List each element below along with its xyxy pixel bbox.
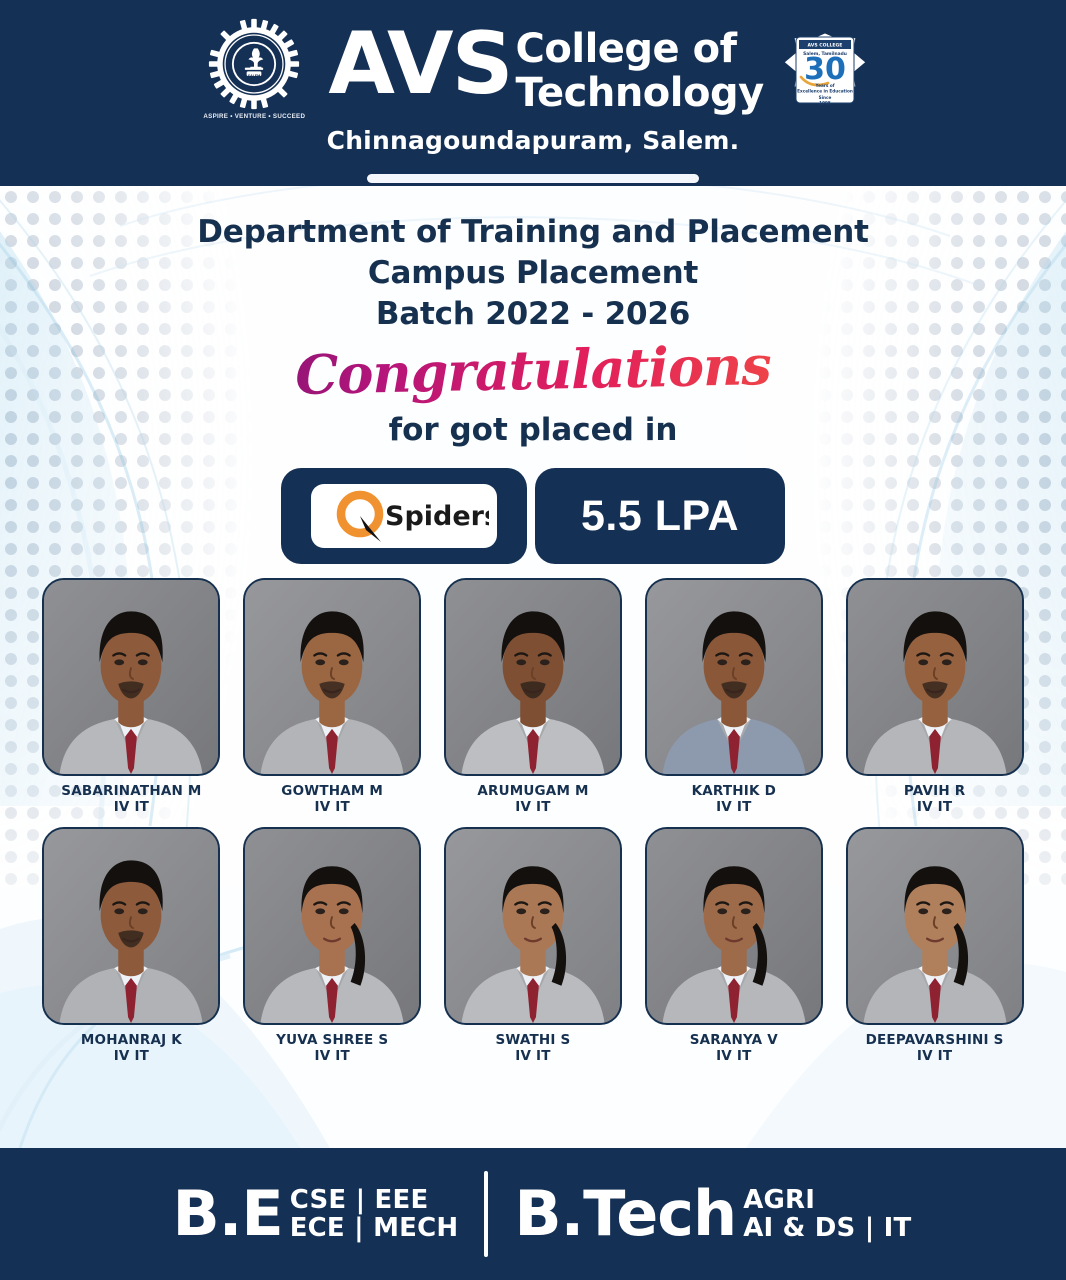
student-name: GOWTHAM M bbox=[281, 783, 383, 799]
student-photo-female-3 bbox=[645, 827, 823, 1025]
student-department: IV IT bbox=[515, 799, 550, 815]
student-department: IV IT bbox=[716, 799, 751, 815]
degree-be-label: B.E bbox=[173, 1183, 283, 1245]
student-photo-female-4 bbox=[846, 827, 1024, 1025]
student-card: DEEPAVARSHINI SIV IT bbox=[841, 827, 1028, 1064]
student-name: YUVA SHREE S bbox=[276, 1032, 388, 1048]
svg-text:AVS COLLEGE: AVS COLLEGE bbox=[807, 43, 842, 49]
btech-branches-line2: AI & DS | IT bbox=[743, 1214, 911, 1242]
student-card: GOWTHAM MIV IT bbox=[239, 578, 426, 815]
placement-poster: SALEM ASPIRE • VENTURE • SUCCEED AVS Col… bbox=[0, 0, 1066, 1280]
header-brand-row: SALEM ASPIRE • VENTURE • SUCCEED AVS Col… bbox=[0, 18, 1066, 120]
svg-text:Excellence in Education: Excellence in Education bbox=[797, 89, 853, 94]
title-line-department: Department of Training and Placement bbox=[0, 212, 1066, 253]
student-name: SARANYA V bbox=[690, 1032, 778, 1048]
student-photo-male-3 bbox=[444, 578, 622, 776]
anniversary-30-badge-icon: AVS COLLEGE Salem, Tamilnadu 30 Years of… bbox=[782, 21, 868, 117]
be-branches-line2: ECE | MECH bbox=[290, 1214, 459, 1242]
btech-branches-line1: AGRI bbox=[743, 1186, 911, 1214]
student-photo-female-1 bbox=[243, 827, 421, 1025]
student-name: SABARINATHAN M bbox=[61, 783, 201, 799]
package-amount: 5.5 LPA bbox=[581, 492, 739, 541]
package-panel: 5.5 LPA bbox=[535, 468, 785, 564]
student-name: KARTHIK D bbox=[692, 783, 776, 799]
student-card: KARTHIK DIV IT bbox=[640, 578, 827, 815]
poster-body: Department of Training and Placement Cam… bbox=[0, 186, 1066, 1064]
header-divider bbox=[367, 174, 699, 183]
student-card: ARUMUGAM MIV IT bbox=[440, 578, 627, 815]
footer-divider bbox=[484, 1171, 488, 1257]
brand-wordmark: AVS College of Technology bbox=[328, 25, 763, 113]
degree-btech-label: B.Tech bbox=[514, 1183, 736, 1245]
student-department: IV IT bbox=[917, 799, 952, 815]
student-photo-male-6 bbox=[42, 827, 220, 1025]
congratulations-script: Congratulations bbox=[0, 326, 1066, 416]
brand-technology: Technology bbox=[516, 73, 764, 113]
student-name: PAVIH R bbox=[904, 783, 965, 799]
college-seal-tagline: ASPIRE • VENTURE • SUCCEED bbox=[203, 113, 305, 120]
be-branches-line1: CSE | EEE bbox=[290, 1186, 459, 1214]
degree-be-group: B.E CSE | EEE ECE | MECH bbox=[173, 1183, 459, 1245]
svg-text:1995: 1995 bbox=[819, 101, 831, 106]
svg-text:SALEM: SALEM bbox=[248, 74, 261, 78]
company-logo-panel: Spiders bbox=[281, 468, 527, 564]
student-card: PAVIH RIV IT bbox=[841, 578, 1028, 815]
student-card: SWATHI SIV IT bbox=[440, 827, 627, 1064]
svg-text:30: 30 bbox=[804, 52, 846, 87]
student-card: SABARINATHAN MIV IT bbox=[38, 578, 225, 815]
brand-avs: AVS bbox=[328, 25, 511, 104]
brand-college-of: College of bbox=[516, 29, 764, 69]
svg-text:Since: Since bbox=[818, 95, 831, 100]
student-department: IV IT bbox=[114, 799, 149, 815]
title-block: Department of Training and Placement Cam… bbox=[0, 212, 1066, 448]
college-seal-block: SALEM ASPIRE • VENTURE • SUCCEED bbox=[198, 18, 310, 120]
student-department: IV IT bbox=[515, 1048, 550, 1064]
college-location: Chinnagoundapuram, Salem. bbox=[0, 126, 1066, 155]
student-grid: SABARINATHAN MIV ITGOWTHAM MIV ITARUMUGA… bbox=[38, 578, 1028, 1064]
degree-btech-group: B.Tech AGRI AI & DS | IT bbox=[514, 1183, 911, 1245]
student-name: DEEPAVARSHINI S bbox=[866, 1032, 1004, 1048]
student-card: MOHANRAJ KIV IT bbox=[38, 827, 225, 1064]
student-card: YUVA SHREE SIV IT bbox=[239, 827, 426, 1064]
company-package-band: Spiders 5.5 LPA bbox=[281, 468, 785, 564]
student-photo-female-2 bbox=[444, 827, 622, 1025]
student-photo-male-4 bbox=[645, 578, 823, 776]
student-department: IV IT bbox=[114, 1048, 149, 1064]
poster-header: SALEM ASPIRE • VENTURE • SUCCEED AVS Col… bbox=[0, 0, 1066, 186]
student-photo-male-1 bbox=[42, 578, 220, 776]
student-department: IV IT bbox=[917, 1048, 952, 1064]
student-name: SWATHI S bbox=[496, 1032, 571, 1048]
student-department: IV IT bbox=[314, 1048, 349, 1064]
student-photo-male-5 bbox=[846, 578, 1024, 776]
student-photo-male-2 bbox=[243, 578, 421, 776]
student-name: ARUMUGAM M bbox=[477, 783, 588, 799]
college-seal-icon: SALEM bbox=[208, 18, 300, 110]
svg-text:Spiders: Spiders bbox=[385, 501, 489, 532]
student-department: IV IT bbox=[716, 1048, 751, 1064]
title-line-event: Campus Placement bbox=[0, 253, 1066, 294]
svg-text:Years of: Years of bbox=[814, 83, 834, 88]
subtitle-placed-in: for got placed in bbox=[0, 412, 1066, 448]
student-name: MOHANRAJ K bbox=[81, 1032, 182, 1048]
student-department: IV IT bbox=[314, 799, 349, 815]
poster-footer: B.E CSE | EEE ECE | MECH B.Tech AGRI AI … bbox=[0, 1148, 1066, 1280]
qspiders-logo-icon: Spiders bbox=[311, 484, 497, 548]
student-card: SARANYA VIV IT bbox=[640, 827, 827, 1064]
